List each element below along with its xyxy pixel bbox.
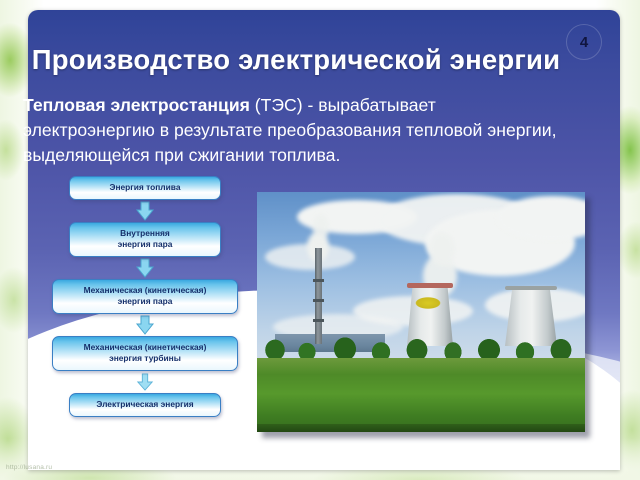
flow-step-3: Механическая (кинетическая)энергия пара — [52, 279, 238, 314]
flow-arrow-down-icon-2 — [69, 257, 221, 279]
page-title: Производство электрической энергии — [0, 44, 620, 76]
flow-arrow-down-icon-3 — [52, 314, 238, 336]
photo-grass-field — [257, 358, 585, 432]
slide-canvas: 4 Производство электрической энергии Теп… — [0, 0, 640, 480]
flow-arrow-down-icon-1 — [69, 200, 221, 222]
cooling-tower-left-rim — [407, 283, 453, 288]
cooling-tower-emblem — [413, 296, 443, 310]
flow-arrow-down-icon-4 — [52, 371, 238, 393]
thermal-power-plant-photo — [257, 192, 585, 432]
body-lead-term: Тепловая электростанция — [23, 95, 250, 115]
energy-conversion-flowchart: Энергия топлива Внутренняяэнергия пара М… — [45, 176, 245, 417]
smokestack-band — [313, 279, 324, 282]
body-paragraph: Тепловая электростанция (ТЭС) - вырабаты… — [23, 93, 563, 168]
cooling-tower-right-rim — [505, 286, 557, 290]
source-watermark: http://lusana.ru — [6, 464, 52, 471]
flow-step-5: Электрическая энергия — [69, 393, 221, 417]
flow-step-1: Энергия топлива — [69, 176, 221, 200]
smoke-plume — [313, 214, 329, 240]
photo-bottom-shadow — [257, 424, 585, 432]
flow-step-2: Внутренняяэнергия пара — [69, 222, 221, 257]
smokestack-band — [313, 319, 324, 322]
steam-plume — [429, 232, 455, 266]
photo-treeline — [257, 328, 585, 362]
smokestack-band — [313, 299, 324, 302]
flow-step-4: Механическая (кинетическая)энергия турби… — [52, 336, 238, 371]
